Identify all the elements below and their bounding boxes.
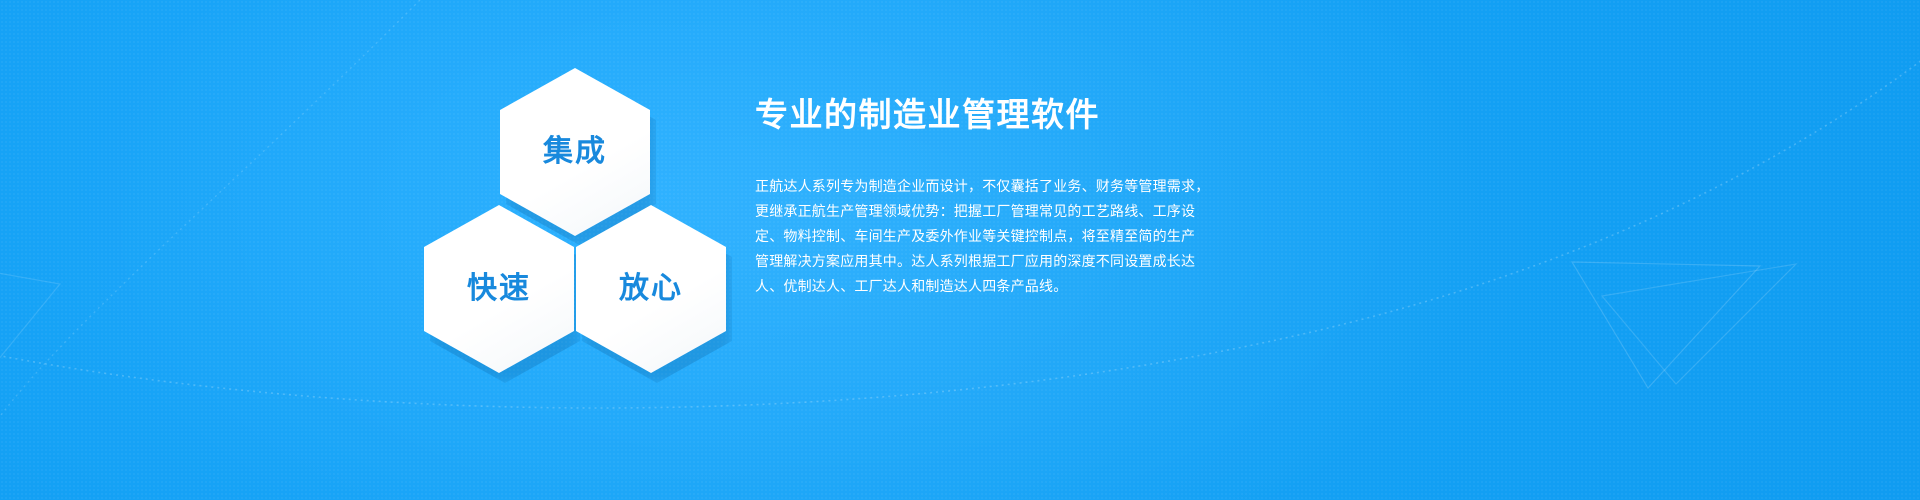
hexagon-cluster: 集成 快速 放心	[410, 60, 740, 340]
paragraph-line: 正航达人系列专为制造企业而设计，不仅囊括了业务、财务等管理需求，	[755, 174, 1225, 199]
paragraph-line: 人、优制达人、工厂达人和制造达人四条产品线。	[755, 274, 1225, 299]
description-paragraph: 正航达人系列专为制造企业而设计，不仅囊括了业务、财务等管理需求， 更继承正航生产…	[755, 134, 1225, 299]
hexagon-label-reliable: 放心	[619, 274, 683, 304]
page-title: 专业的制造业管理软件	[755, 96, 1225, 134]
paragraph-line: 更继承正航生产管理领域优势：把握工厂管理常见的工艺路线、工序设	[755, 199, 1225, 224]
promo-banner: 集成 快速 放心 专业的制造业管理软件 正航达人系列专为制造企业而设计，不仅囊括…	[0, 0, 1920, 500]
copy-block: 专业的制造业管理软件 正航达人系列专为制造企业而设计，不仅囊括了业务、财务等管理…	[755, 96, 1225, 299]
hexagon-label-integration: 集成	[543, 137, 607, 167]
paragraph-line: 定、物料控制、车间生产及委外作业等关键控制点，将至精至简的生产	[755, 224, 1225, 249]
hexagon-label-fast: 快速	[467, 274, 531, 304]
paragraph-line: 管理解决方案应用其中。达人系列根据工厂应用的深度不同设置成长达	[755, 249, 1225, 274]
